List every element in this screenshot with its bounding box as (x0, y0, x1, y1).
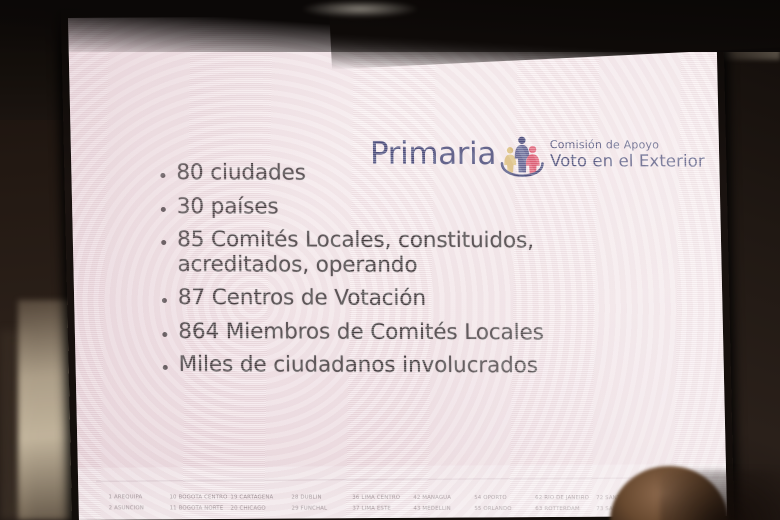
slide-bullet-list: 80 ciudades 30 países 85 Comités Locales… (160, 161, 663, 388)
city-cell: 36 LIMA CENTRO (352, 495, 413, 501)
city-cell: 54 OPORTO (474, 495, 535, 501)
bullet-dot-icon (161, 240, 166, 245)
bullet-dot-icon (162, 331, 167, 336)
bullet-text: 87 Centros de Votación (178, 286, 662, 312)
city-column: 36 LIMA CENTRO 37 LIMA ESTE (352, 495, 413, 512)
ceiling-glare (300, 0, 420, 18)
bullet-text: 85 Comités Locales, constituidos, acredi… (177, 228, 662, 279)
city-column: 54 OPORTO 55 ORLANDO (474, 495, 535, 512)
logo-tagline-line1: Comisión de Apoyo (550, 139, 705, 151)
bullet-dot-icon (163, 365, 168, 370)
city-cell: 42 MANAGUA (413, 495, 474, 501)
bullet-dot-icon (162, 298, 167, 303)
city-cell: 62 RIO DE JANEIRO (535, 495, 596, 501)
city-column: 28 DUBLIN 29 FUNCHAL (291, 495, 352, 512)
city-column: 62 RIO DE JANEIRO 63 ROTTERDAM (535, 495, 596, 512)
list-item: Miles de ciudadanos involucrados (163, 353, 663, 379)
list-item: 80 ciudades (160, 161, 660, 187)
bullet-text: Miles de ciudadanos involucrados (179, 353, 663, 379)
projection-screen: Primaria Comisión de Apoyo Vot (68, 14, 727, 520)
city-cell: 55 ORLANDO (474, 506, 535, 512)
list-item: 30 países (161, 195, 661, 221)
city-column: 42 MANAGUA 43 MEDELLIN (413, 495, 474, 512)
bullet-text: 864 Miembros de Comités Locales (178, 320, 662, 346)
city-cell: 37 LIMA ESTE (352, 506, 413, 512)
presentation-slide: Primaria Comisión de Apoyo Vot (68, 14, 727, 520)
city-cell: 20 CHICAGO (231, 506, 292, 512)
city-cell: 10 BOGOTA CENTRO (169, 494, 230, 500)
list-item: 85 Comités Locales, constituidos, acredi… (161, 228, 662, 279)
city-cell: 63 ROTTERDAM (535, 506, 596, 512)
city-column: 19 CARTAGENA 20 CHICAGO (230, 495, 291, 512)
city-cell: 1 AREQUIPA (108, 494, 169, 500)
bullet-text: 80 ciudades (176, 161, 660, 187)
bullet-dot-icon (161, 207, 166, 212)
city-cell: 2 ASUNCION (109, 505, 170, 511)
photo-scene: Primaria Comisión de Apoyo Vot (0, 0, 780, 520)
city-column: 1 AREQUIPA 2 ASUNCION (108, 494, 169, 511)
city-cell: 43 MEDELLIN (413, 506, 474, 512)
city-cell: 29 FUNCHAL (291, 506, 352, 512)
city-cell: 19 CARTAGENA (230, 495, 291, 501)
city-cell: 28 DUBLIN (291, 495, 352, 501)
city-column: 10 BOGOTA CENTRO 11 BOGOTA NORTE (169, 494, 230, 511)
bullet-dot-icon (160, 173, 165, 178)
list-item: 87 Centros de Votación (162, 286, 662, 312)
audience-shoulder-shadow (660, 470, 780, 520)
bullet-text: 30 países (177, 195, 661, 221)
list-item: 864 Miembros de Comités Locales (162, 319, 662, 345)
city-cell: 11 BOGOTA NORTE (170, 505, 231, 511)
